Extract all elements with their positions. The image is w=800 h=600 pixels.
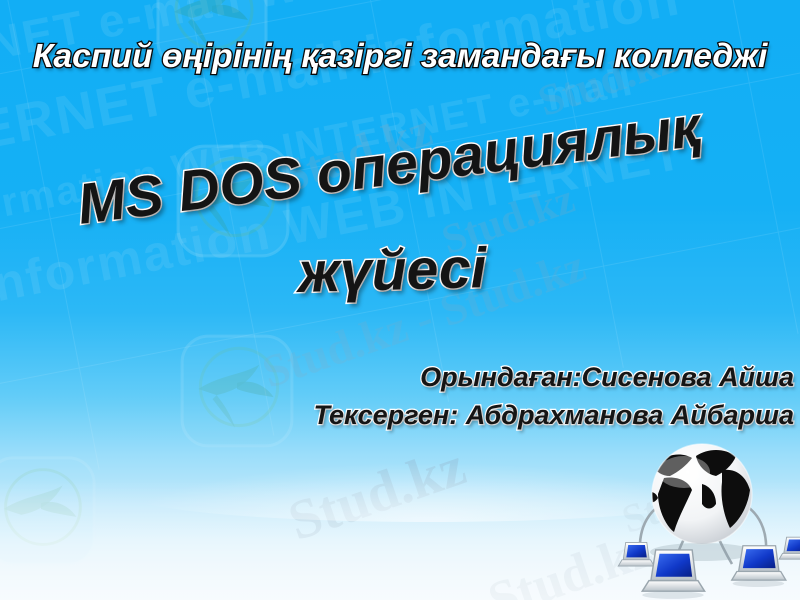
main-title-line-1: MS DOS операциялық (74, 90, 758, 235)
hummingbird-logo-icon (176, 330, 298, 452)
hummingbird-logo-icon (0, 452, 100, 570)
stud-kz-watermark: Stud.kz (281, 434, 474, 554)
globe-network-icon (604, 432, 800, 600)
floor-highlight (120, 462, 740, 522)
author-line-prepared-by: Орындаған:Сисенова Айша (313, 358, 794, 396)
stud-kz-watermark-pair: Stud.kz - Stud.kz (256, 239, 592, 399)
laptop-icon (779, 537, 800, 559)
laptop-icon (732, 546, 786, 587)
main-title-line-2: жүйесі (297, 231, 760, 303)
bg-word-row-4: e-mail information WEB INTERNET (0, 78, 800, 349)
slide-main-title: MS DOS операциялық жүйесі (40, 175, 760, 303)
stud-kz-watermark: Stud.kz (481, 520, 660, 600)
stud-kz-watermark: Stud.kz (273, 102, 438, 205)
stud-kz-watermark: Stud.kz (436, 175, 581, 265)
bg-word-row-2: WEB INTERNET e-mail information (0, 0, 800, 208)
slide-top-title: Каспий өңірінің қазіргі замандағы коллед… (0, 36, 800, 76)
floor-sheen (0, 480, 800, 600)
laptop-icon (618, 542, 654, 566)
author-block: Орындаған:Сисенова Айша Тексерген: Абдра… (313, 358, 794, 434)
presentation-slide: INTERNET e-mail WEB information WEB INTE… (0, 0, 800, 600)
author-line-checked-by: Тексерген: Абдрахманова Айбарша (313, 396, 794, 434)
stud-kz-watermark: Stud.kz (616, 456, 754, 543)
hummingbird-logo-icon (172, 140, 294, 262)
laptop-icon (642, 550, 704, 599)
